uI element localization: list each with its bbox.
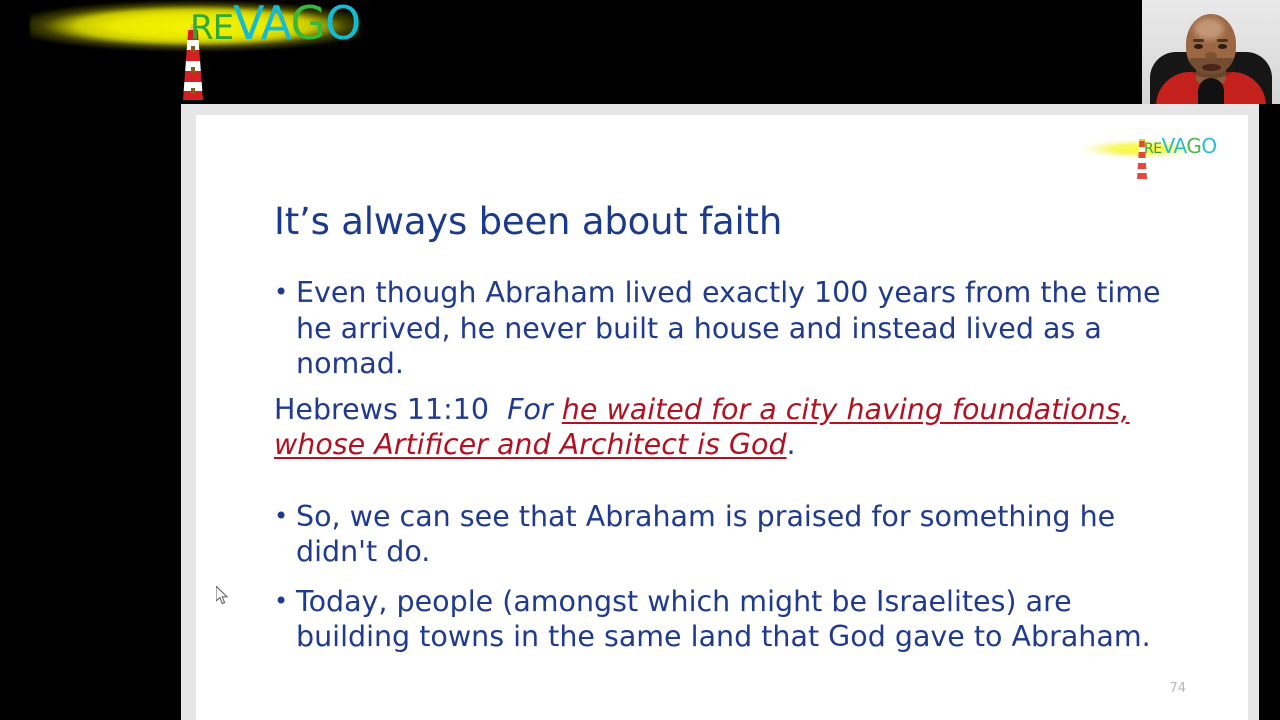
mouth-shape	[1202, 64, 1221, 71]
slide-frame: REVAGO It’s always been about faith • Ev…	[181, 104, 1259, 720]
brand-letter-o: O	[1201, 134, 1216, 158]
presentation-banner: REVAGO	[0, 0, 1280, 104]
slide-brand-logo-text: REVAGO	[1144, 135, 1217, 160]
brand-letter-o: O	[325, 0, 360, 50]
bullet-item-1: • Even though Abraham lived exactly 100 …	[274, 275, 1179, 382]
bullet-text-1: Even though Abraham lived exactly 100 ye…	[296, 275, 1179, 382]
slide-brand-logo: REVAGO	[1082, 123, 1232, 175]
eye-right	[1218, 44, 1227, 49]
slide-page-number: 74	[1169, 681, 1186, 696]
bullet-marker-icon: •	[274, 275, 296, 311]
brand-letter-e: E	[1153, 141, 1161, 157]
brand-letter-r: R	[190, 8, 213, 48]
brand-logo-text: REVAGO	[190, 0, 360, 54]
nose-shape	[1205, 52, 1217, 60]
scripture-quote: Hebrews 11:10 For he waited for a city h…	[274, 392, 1179, 463]
scripture-spacer-2	[553, 393, 562, 426]
brand-letter-g: G	[1186, 134, 1201, 158]
brand-letter-v: V	[233, 0, 261, 50]
body-spacer-2	[274, 570, 1179, 584]
body-spacer	[274, 463, 1179, 499]
slide-body: • Even though Abraham lived exactly 100 …	[274, 275, 1179, 655]
microphone-icon	[1198, 78, 1224, 104]
bullet-text-2: So, we can see that Abraham is praised f…	[296, 499, 1179, 570]
scripture-spacer	[489, 393, 507, 426]
head-highlight	[1194, 18, 1224, 40]
brand-letter-r: R	[1144, 141, 1153, 157]
scripture-terminator: .	[787, 428, 796, 461]
eyebrow-right	[1217, 39, 1228, 42]
bullet-item-2: • So, we can see that Abraham is praised…	[274, 499, 1179, 570]
brand-letter-g: G	[290, 0, 325, 50]
screen-capture: REVAGO REVAGO It’s always	[0, 0, 1280, 720]
brand-letter-v: V	[1162, 134, 1174, 158]
bullet-item-3: • Today, people (amongst which might be …	[274, 584, 1179, 655]
scripture-lead-word: For	[507, 393, 553, 426]
brand-letter-a: A	[1174, 134, 1187, 158]
slide-canvas[interactable]: REVAGO It’s always been about faith • Ev…	[196, 115, 1248, 720]
brand-letter-a: A	[261, 0, 291, 50]
eye-left	[1194, 44, 1203, 49]
bullet-text-3: Today, people (amongst which might be Is…	[296, 584, 1179, 655]
presenter-webcam[interactable]	[1142, 0, 1280, 104]
bullet-marker-icon: •	[274, 584, 296, 620]
eyebrow-left	[1193, 39, 1204, 42]
slide-title: It’s always been about faith	[274, 200, 782, 243]
scripture-reference: Hebrews 11:10	[274, 393, 489, 426]
bullet-marker-icon: •	[274, 499, 296, 535]
brand-letter-e: E	[213, 8, 233, 48]
